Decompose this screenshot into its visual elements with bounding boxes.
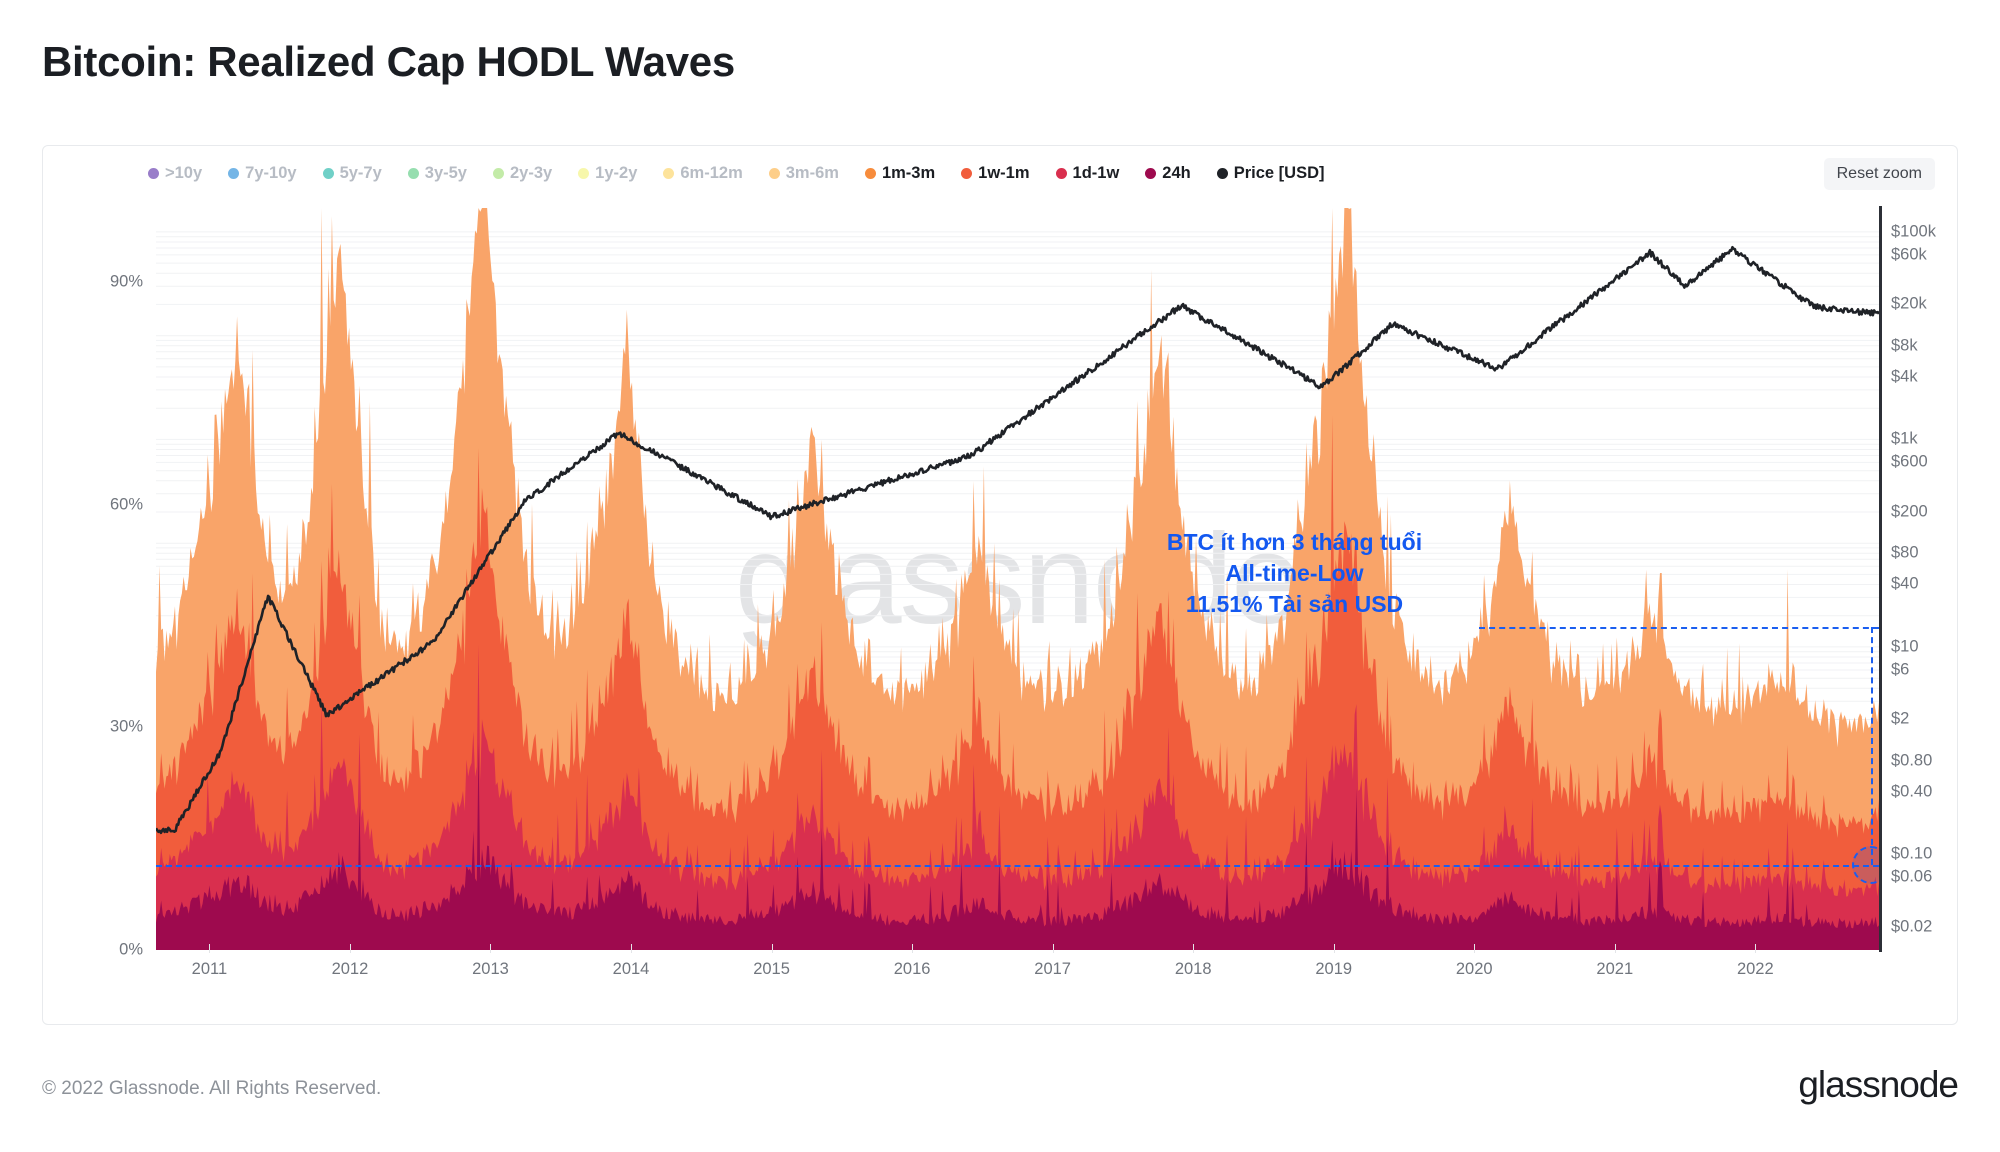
legend-dot-icon [323, 168, 334, 179]
x-axis-tick-mark [209, 944, 210, 953]
x-axis-tick-mark [1615, 944, 1616, 953]
x-axis-tick-mark [631, 944, 632, 953]
legend-item-label: 1m-3m [882, 164, 935, 183]
x-axis-tick-mark [912, 944, 913, 953]
legend-dot-icon [961, 168, 972, 179]
legend-dot-icon [1217, 168, 1228, 179]
x-axis-tick-2016: 2016 [894, 960, 931, 979]
x-axis-tick-2012: 2012 [332, 960, 369, 979]
legend-item-1w-1m[interactable]: 1w-1m [961, 164, 1029, 183]
y-axis-right-tick: $600 [1891, 453, 1928, 472]
x-axis-tick-2013: 2013 [472, 960, 509, 979]
y-axis-left: 0%30%60%90% [61, 208, 143, 950]
legend-item-label: 1d-1w [1073, 164, 1120, 183]
x-axis-tick-mark [350, 944, 351, 953]
x-axis-tick-mark [1755, 944, 1756, 953]
legend-dot-icon [408, 168, 419, 179]
x-axis-tick-2021: 2021 [1596, 960, 1633, 979]
legend-dot-icon [769, 168, 780, 179]
y-axis-right-tick: $100k [1891, 222, 1936, 241]
y-axis-right-tick: $1k [1891, 430, 1918, 449]
chart-legend: >10y7y-10y5y-7y3y-5y2y-3y1y-2y6m-12m3m-6… [43, 146, 1957, 201]
legend-item-label: 3y-5y [425, 164, 467, 183]
legend-item-label: 6m-12m [680, 164, 742, 183]
legend-item-label: 3m-6m [786, 164, 839, 183]
y-axis-right-tick: $0.40 [1891, 782, 1932, 801]
annotation-hline-high [1479, 627, 1879, 629]
legend-item-1y-2y[interactable]: 1y-2y [578, 164, 637, 183]
legend-dot-icon [578, 168, 589, 179]
price-line [156, 208, 1879, 950]
chart-page: Bitcoin: Realized Cap HODL Waves >10y7y-… [0, 0, 2000, 1152]
y-axis-right: $100k$60k$20k$8k$4k$1k$600$200$80$40$10$… [1891, 208, 2000, 950]
legend-item-label: Price [USD] [1234, 164, 1325, 183]
reset-zoom-button[interactable]: Reset zoom [1824, 158, 1935, 190]
legend-item-label: 2y-3y [510, 164, 552, 183]
x-axis-tick-2022: 2022 [1737, 960, 1774, 979]
y-axis-right-tick: $40 [1891, 575, 1919, 594]
legend-item-5y-7y[interactable]: 5y-7y [323, 164, 382, 183]
legend-item-label: 1y-2y [595, 164, 637, 183]
legend-item-1m-3m[interactable]: 1m-3m [865, 164, 935, 183]
legend-item-label: 5y-7y [340, 164, 382, 183]
y-axis-left-tick: 0% [119, 941, 143, 960]
x-axis-tick-2019: 2019 [1315, 960, 1352, 979]
x-axis-tick-2014: 2014 [613, 960, 650, 979]
y-axis-left-tick: 60% [110, 495, 143, 514]
legend-dot-icon [228, 168, 239, 179]
y-axis-right-tick: $200 [1891, 502, 1928, 521]
x-axis-tick-2017: 2017 [1034, 960, 1071, 979]
legend-dot-icon [663, 168, 674, 179]
page-title: Bitcoin: Realized Cap HODL Waves [42, 38, 735, 86]
legend-item-7y-10y[interactable]: 7y-10y [228, 164, 296, 183]
y-axis-left-tick: 90% [110, 273, 143, 292]
y-axis-right-tick: $0.06 [1891, 868, 1932, 887]
y-axis-right-tick: $60k [1891, 245, 1927, 264]
y-axis-right-tick: $4k [1891, 367, 1918, 386]
y-axis-right-tick: $0.10 [1891, 845, 1932, 864]
right-axis-line [1879, 206, 1882, 952]
x-axis-tick-2018: 2018 [1175, 960, 1212, 979]
y-axis-right-tick: $2 [1891, 710, 1909, 729]
y-axis-right-tick: $80 [1891, 544, 1919, 563]
annotation-vline [1871, 627, 1873, 864]
x-axis-tick-2011: 2011 [192, 960, 227, 979]
legend-item-label: 1w-1m [978, 164, 1029, 183]
x-axis-tick-mark [1334, 944, 1335, 953]
annotation-line-2: All-time-Low [1129, 558, 1459, 589]
y-axis-right-tick: $10 [1891, 637, 1919, 656]
annotation-line-3: 11.51% Tài sản USD [1129, 589, 1459, 620]
x-axis-tick-2015: 2015 [753, 960, 790, 979]
legend-dot-icon [1056, 168, 1067, 179]
x-axis: 2011201220132014201520162017201820192020… [156, 954, 1879, 994]
plot-area[interactable]: glassnode BTC ít hơn 3 tháng tuổi All-ti… [156, 208, 1879, 950]
legend-item-10y[interactable]: >10y [148, 164, 202, 183]
legend-dot-icon [865, 168, 876, 179]
y-axis-right-tick: $0.80 [1891, 751, 1932, 770]
legend-item-label: >10y [165, 164, 202, 183]
footer-copyright: © 2022 Glassnode. All Rights Reserved. [42, 1078, 381, 1100]
chart-card: >10y7y-10y5y-7y3y-5y2y-3y1y-2y6m-12m3m-6… [42, 145, 1958, 1025]
legend-item-label: 24h [1162, 164, 1190, 183]
legend-item-2y-3y[interactable]: 2y-3y [493, 164, 552, 183]
legend-item-24h[interactable]: 24h [1145, 164, 1190, 183]
x-axis-tick-mark [1193, 944, 1194, 953]
x-axis-tick-mark [1053, 944, 1054, 953]
x-axis-tick-2020: 2020 [1456, 960, 1493, 979]
legend-item-1d-1w[interactable]: 1d-1w [1056, 164, 1120, 183]
legend-item-6m-12m[interactable]: 6m-12m [663, 164, 742, 183]
legend-item-3y-5y[interactable]: 3y-5y [408, 164, 467, 183]
legend-item-3m-6m[interactable]: 3m-6m [769, 164, 839, 183]
x-axis-tick-mark [490, 944, 491, 953]
y-axis-left-tick: 30% [110, 718, 143, 737]
x-axis-tick-mark [772, 944, 773, 953]
legend-item-price-usd[interactable]: Price [USD] [1217, 164, 1325, 183]
y-axis-right-tick: $20k [1891, 295, 1927, 314]
y-axis-right-tick: $0.02 [1891, 917, 1932, 936]
y-axis-right-tick: $8k [1891, 336, 1918, 355]
x-axis-tick-mark [1474, 944, 1475, 953]
legend-item-label: 7y-10y [245, 164, 296, 183]
legend-dot-icon [1145, 168, 1156, 179]
footer-logo: glassnode [1798, 1064, 1958, 1106]
annotation-hline-low [156, 865, 1879, 867]
annotation-text: BTC ít hơn 3 tháng tuổi All-time-Low 11.… [1129, 527, 1459, 620]
legend-dot-icon [148, 168, 159, 179]
legend-dot-icon [493, 168, 504, 179]
y-axis-right-tick: $6 [1891, 660, 1909, 679]
annotation-line-1: BTC ít hơn 3 tháng tuổi [1129, 527, 1459, 558]
